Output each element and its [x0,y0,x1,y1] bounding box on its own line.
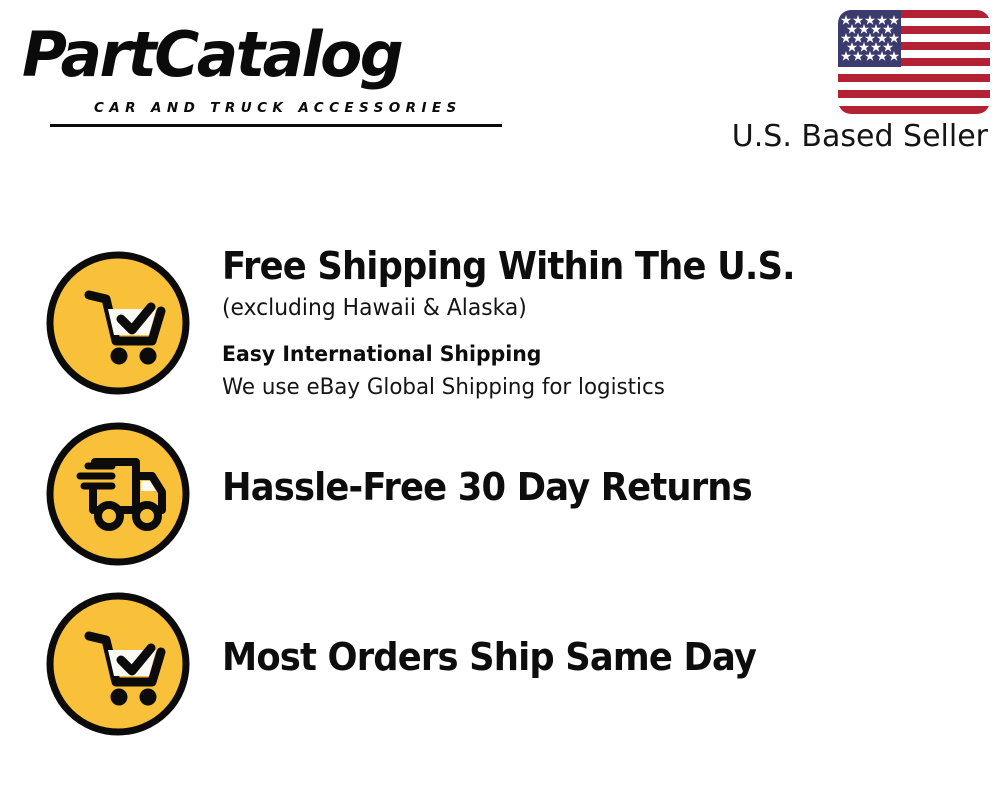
feature-note: (excluding Hawaii & Alaska) [222,291,954,325]
cart-check-icon [44,249,192,397]
us-flag-icon [838,10,990,114]
feature-text-block: Most Orders Ship Same Day [222,634,992,680]
feature-text-block: Hassle-Free 30 Day Returns [222,464,992,510]
feature-subtitle: Easy International Shipping [222,339,954,371]
brand-tagline: CAR AND TRUCK ACCESSORIES [94,100,462,116]
feature-detail: We use eBay Global Shipping for logistic… [222,371,954,404]
feature-row: Free Shipping Within The U.S. (excluding… [0,243,1000,408]
page-header: PartCatalog CAR AND TRUCK ACCESSORIES [0,0,1000,170]
feature-title: Free Shipping Within The U.S. [222,243,938,289]
feature-title: Hassle-Free 30 Day Returns [222,464,938,510]
us-based-seller-label: U.S. Based Seller [500,119,988,154]
feature-row: Hassle-Free 30 Day Returns [0,418,1000,570]
brand-wordmark: PartCatalog [22,18,401,92]
feature-title: Most Orders Ship Same Day [222,634,938,680]
feature-row: Most Orders Ship Same Day [0,588,1000,740]
cart-check-icon [44,590,192,738]
delivery-truck-icon [44,420,192,568]
feature-text-block: Free Shipping Within The U.S. (excluding… [222,243,992,404]
brand-logo[interactable]: PartCatalog CAR AND TRUCK ACCESSORIES [22,18,492,114]
brand-underline-rule [50,124,502,127]
